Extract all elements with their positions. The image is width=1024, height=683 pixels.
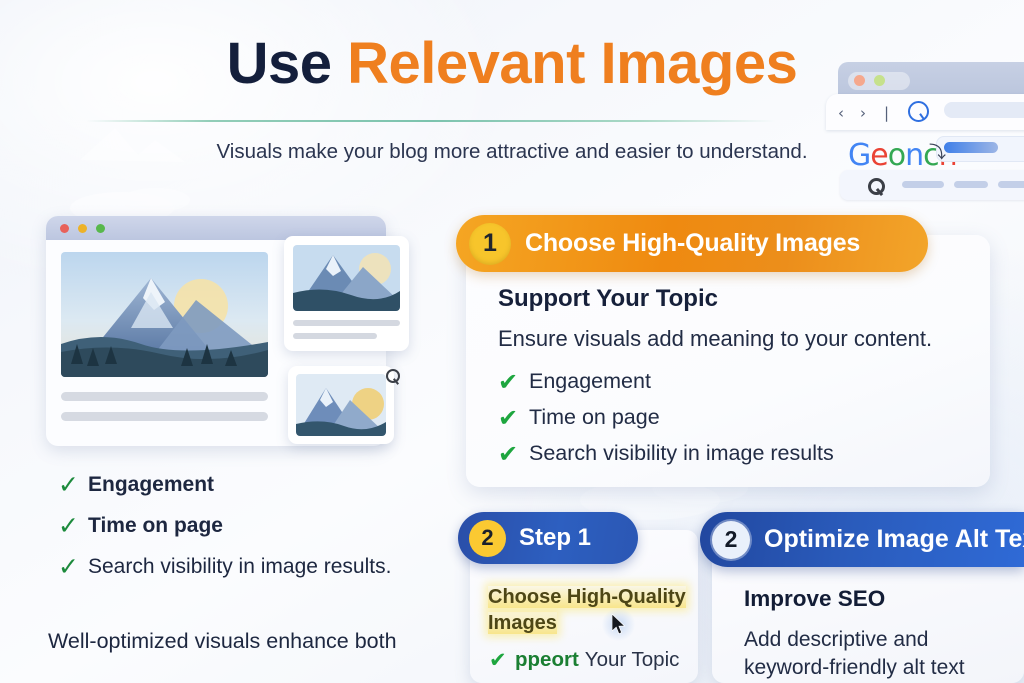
step-badge: 2 [469, 520, 506, 557]
check-icon: ✔ [498, 442, 529, 466]
check-icon: ✓ [58, 554, 88, 579]
header-divider [86, 120, 776, 122]
result-dash [998, 181, 1024, 188]
thumbnail-image-one [293, 245, 400, 311]
magnifier-icon[interactable] [386, 369, 400, 383]
browser-url-bar[interactable] [944, 102, 1024, 118]
list-item: ✓ Engagement [58, 472, 458, 497]
card-step-3-pill-title: Optimize Image Alt Text [764, 525, 1024, 554]
list-item-label: Engagement [529, 369, 651, 394]
card-step-3-header-pill[interactable]: 2 Optimize Image Alt Text [700, 512, 1024, 567]
enter-arrow-icon: ⤵ [929, 138, 946, 163]
list-item-label: Engagement [88, 473, 214, 497]
chevron-left-icon[interactable]: ‹ [838, 104, 844, 122]
mouse-pointer-icon [602, 608, 635, 641]
search-circle-icon[interactable] [908, 101, 929, 122]
list-item: ✔ Time on page [498, 405, 834, 430]
check-rest-text: Your Topic [585, 648, 680, 672]
highlight-line-2: Images [488, 612, 557, 634]
check-circle-icon: ✔ [489, 650, 515, 671]
card-step-2-pill-title: Step 1 [519, 524, 591, 552]
window-dot-red [60, 224, 69, 233]
window-dot-green [96, 224, 105, 233]
hero-mountain-image [61, 252, 268, 377]
card-step-1: Support Your Topic Ensure visuals add me… [466, 235, 990, 487]
card-step-3-subtext: Add descriptive and keyword-friendly alt… [744, 626, 1014, 682]
logo-letter-3: n [905, 141, 923, 171]
chevron-right-icon[interactable]: › [860, 104, 866, 122]
left-checklist: ✓ Engagement ✓ Time on page ✓ Search vis… [58, 472, 458, 595]
card-step-1-subtext: Ensure visuals add meaning to your conte… [498, 326, 932, 352]
card-step-1-pill-title: Choose High-Quality Images [525, 229, 860, 258]
thumbnail-card-two [288, 366, 394, 444]
check-icon: ✓ [58, 513, 88, 538]
browser-tab-pill[interactable] [848, 72, 910, 90]
blog-preview-illustration [46, 216, 432, 450]
step-badge: 1 [469, 223, 511, 265]
list-item-label: Search visibility in image results. [88, 555, 391, 579]
check-icon: ✔ [498, 406, 529, 430]
card-step-3-heading: Improve SEO [744, 586, 885, 612]
list-item: ✓ Search visibility in image results. [58, 554, 458, 579]
tab-divider-icon: | [884, 104, 889, 122]
thumbnail-card-one [284, 236, 409, 351]
list-item-label: Time on page [529, 405, 660, 430]
browser-mockup: ‹ › | Geonch ⤵ [826, 58, 1024, 203]
list-item-label: Search visibility in image results [529, 441, 834, 466]
page-title-part2: Relevant Images [347, 31, 797, 96]
result-dash [902, 181, 944, 188]
thumbnail-text-line [293, 320, 400, 326]
card-step-2-header-pill[interactable]: 2 Step 1 [458, 512, 638, 564]
logo-letter-2: o [888, 141, 905, 171]
logo-letter-0: G [848, 141, 870, 171]
result-dash [954, 181, 988, 188]
step-badge: 2 [712, 521, 750, 559]
list-item: ✓ Time on page [58, 513, 458, 538]
list-item: ✔ Search visibility in image results [498, 441, 834, 466]
logo-letter-1: e [870, 141, 887, 171]
check-icon: ✓ [58, 472, 88, 497]
search-input-fill [944, 142, 998, 153]
thumbnail-text-line [293, 333, 377, 339]
text-placeholder-line [61, 412, 268, 421]
card-step-2-highlighted-text: Choose High-Quality Images [488, 585, 706, 636]
text-placeholder-line [61, 392, 268, 401]
check-icon: ✔ [498, 370, 529, 394]
card-step-1-heading: Support Your Topic [498, 285, 718, 313]
check-green-text: ppeort [515, 648, 579, 672]
card-step-2-check-row: ✔ ppeort Your Topic [489, 648, 679, 672]
left-note-text: Well-optimized visuals enhance both [48, 629, 397, 654]
highlight-line-1: Choose High-Quality [488, 586, 686, 608]
thumbnail-image-two [296, 374, 386, 436]
list-item: ✔ Engagement [498, 369, 834, 394]
card-step-1-checklist: ✔ Engagement ✔ Time on page ✔ Search vis… [498, 369, 834, 477]
page-title-part1: Use [227, 31, 348, 96]
card-step-1-header-pill[interactable]: 1 Choose High-Quality Images [456, 215, 928, 272]
window-dot-yellow [78, 224, 87, 233]
list-item-label: Time on page [88, 514, 223, 538]
